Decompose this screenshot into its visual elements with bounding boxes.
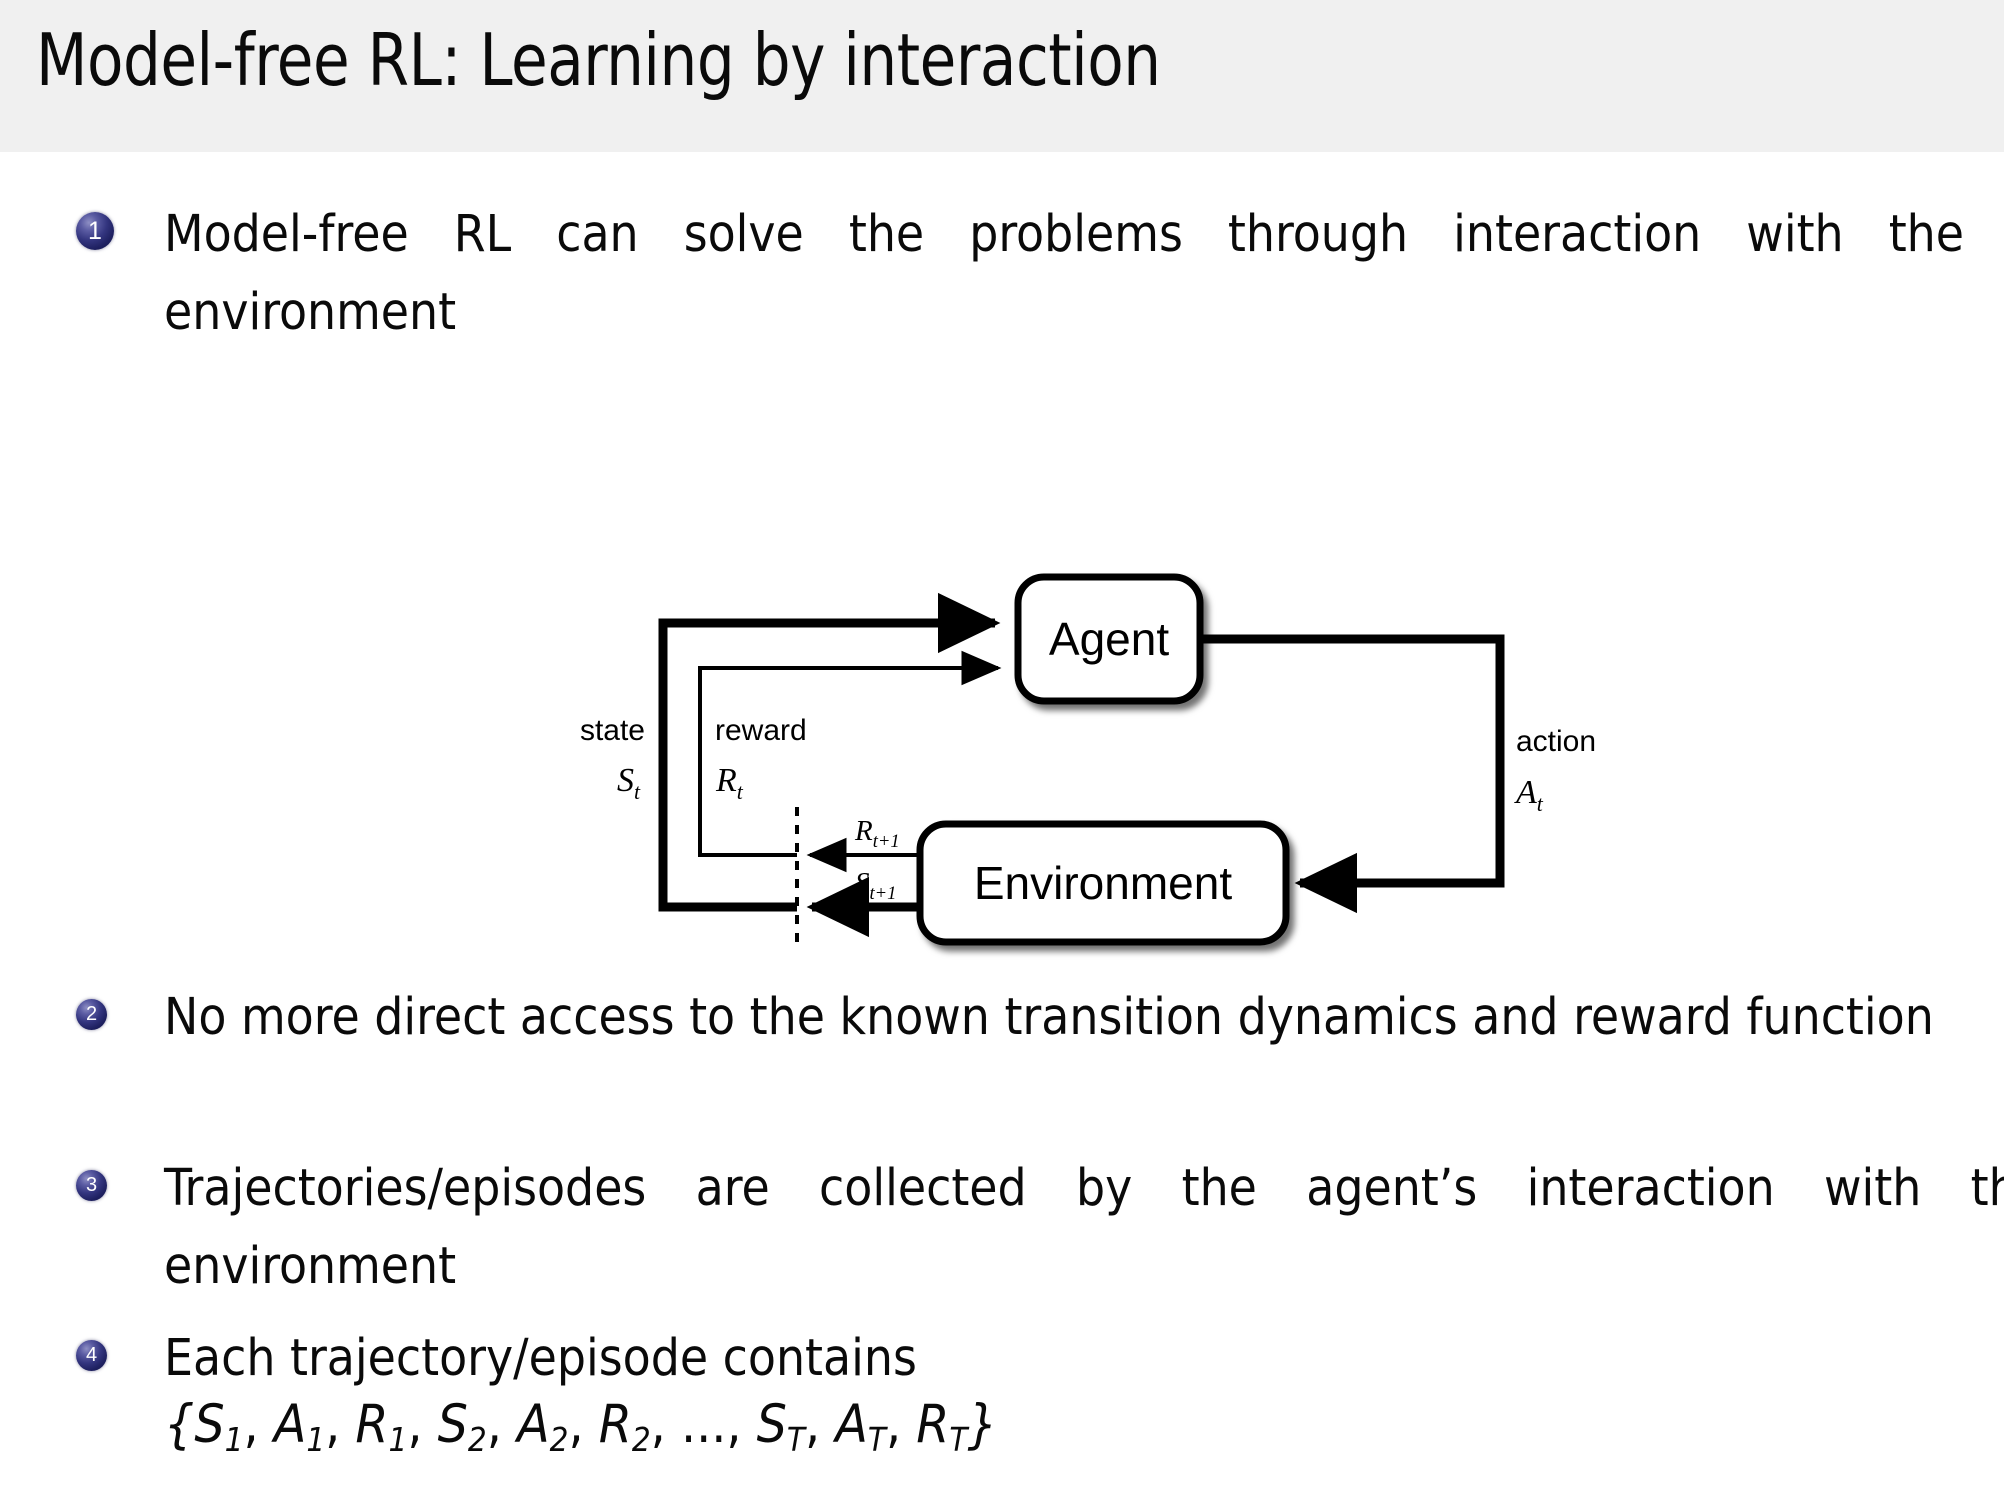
next-state-label-group: St+1 [855,867,896,904]
formula-separator: , [886,1394,916,1455]
list-item-text: Each trajectory/episode contains [164,1320,1964,1398]
page-title: Model-free RL: Learning by interaction [36,24,1161,96]
formula-open-brace: { [164,1394,194,1455]
formula-separator: , [243,1394,273,1455]
bullet-marker-4: 4 [76,1340,107,1371]
bullet-number: 4 [86,1344,97,1366]
slide-content: 1 Model-free RL can solve the problems t… [0,152,2004,1394]
next-reward-label-group: Rt+1 [854,815,900,852]
bullet-number: 2 [86,1003,97,1025]
action-label: action [1516,725,1596,758]
formula-term: A2 [517,1394,568,1455]
list-item-text: Model-free RL can solve the problems thr… [164,196,1964,352]
environment-box: Environment [920,824,1286,942]
next-reward-symbol: Rt+1 [854,815,900,852]
list-item: 4 Each trajectory/episode contains {S1, … [76,1328,1964,1488]
list-item: 3 Trajectories/episodes are collected by… [76,1158,1964,1298]
list-item: 1 Model-free RL can solve the problems t… [76,204,1964,344]
formula-term: R2 [599,1394,651,1455]
formula-separator: , [568,1394,598,1455]
slide-header-band: Model-free RL: Learning by interaction [0,0,2004,152]
formula-separator: , [726,1394,756,1455]
list-item: 2 No more direct access to the known tra… [76,987,1964,1127]
formula-separator: , [325,1394,355,1455]
list-item-text: No more direct access to the known trans… [164,979,1998,1057]
state-label: state [580,714,645,747]
formula-term: A1 [274,1394,325,1455]
formula-term: R1 [355,1394,407,1455]
state-label-group: state St [580,714,645,804]
formula-term: S1 [194,1394,243,1455]
reward-label: reward [715,714,807,747]
formula-separator: , [651,1394,681,1455]
bullet-marker-1: 1 [76,212,114,250]
bullet-number: 3 [86,1174,97,1196]
formula-separator: , [487,1394,517,1455]
action-path [1200,639,1500,883]
state-symbol: St [617,762,641,804]
trajectory-formula: {S1, A1, R1, S2, A2, R2, ..., ST, AT, RT… [164,1394,998,1459]
bullet-marker-2: 2 [76,999,107,1030]
action-label-group: action At [1514,725,1596,816]
reward-label-group: reward Rt [715,714,807,804]
bullet-number: 1 [88,217,102,245]
reward-symbol: Rt [715,762,744,804]
formula-term: S2 [438,1394,487,1455]
reward-feedback-path [700,668,998,855]
formula-close-brace: } [967,1394,997,1455]
next-state-symbol: St+1 [855,867,896,904]
list-item-text: Trajectories/episodes are collected by t… [164,1150,2004,1306]
formula-separator: , [407,1394,437,1455]
formula-terms: S1, A1, R1, S2, A2, R2, ..., ST, AT, RT [194,1394,967,1455]
formula-term: ST [757,1394,805,1455]
formula-term: ... [681,1394,726,1455]
formula-term: AT [835,1394,886,1455]
bullet-marker-3: 3 [76,1170,107,1201]
formula-term: RT [916,1394,967,1455]
agent-box-label: Agent [1049,613,1169,665]
agent-box: Agent [1018,577,1200,701]
action-symbol: At [1514,774,1544,816]
environment-box-label: Environment [974,857,1232,909]
state-feedback-path [663,623,995,907]
formula-separator: , [805,1394,835,1455]
